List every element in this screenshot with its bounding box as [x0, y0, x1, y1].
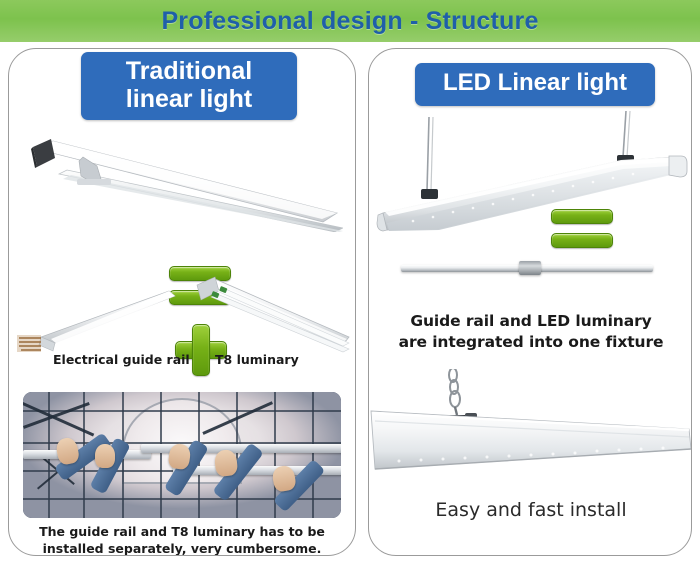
led-pendant-image	[373, 109, 689, 239]
caption-line-1: The guide rail and T8 luminary has to be	[21, 524, 343, 541]
integrated-rail-image	[401, 261, 653, 275]
equals-bar-bottom	[551, 233, 613, 248]
equals-bar-top	[551, 209, 613, 224]
installation-photo	[23, 392, 341, 518]
caption-led-integrated: Guide rail and LED luminary are integrat…	[375, 311, 687, 353]
label-electrical-guide-rail: Electrical guide rail	[53, 352, 190, 367]
badge-line-2: linear light	[95, 85, 283, 113]
electrical-guide-rail-image	[11, 281, 176, 353]
panel-led-linear-light: LED Linear light	[368, 48, 692, 556]
badge-led-linear-light: LED Linear light	[415, 63, 655, 106]
led-closeup-image	[369, 369, 692, 479]
page-title: Professional design - Structure	[161, 7, 538, 36]
label-easy-fast-install: Easy and fast install	[369, 499, 692, 521]
traditional-fixture-image	[23, 127, 343, 232]
page-header: Professional design - Structure	[0, 0, 700, 42]
worker-hand	[95, 444, 115, 468]
caption-line-1: Guide rail and LED luminary	[375, 311, 687, 332]
badge-traditional-linear-light: Traditional linear light	[81, 52, 297, 120]
t8-luminary-image	[191, 271, 351, 353]
caption-line-2: installed separately, very cumbersome.	[21, 541, 343, 556]
caption-traditional: The guide rail and T8 luminary has to be…	[21, 524, 343, 556]
caption-line-2: are integrated into one fixture	[375, 332, 687, 353]
label-t8-luminary: T8 luminary	[215, 352, 299, 367]
comparison-panels: Traditional linear light	[0, 42, 700, 565]
equals-icon	[551, 209, 613, 253]
badge-line-1: Traditional	[95, 57, 283, 85]
panel-traditional-light: Traditional linear light	[8, 48, 356, 556]
rail-joint-connector	[519, 261, 541, 275]
